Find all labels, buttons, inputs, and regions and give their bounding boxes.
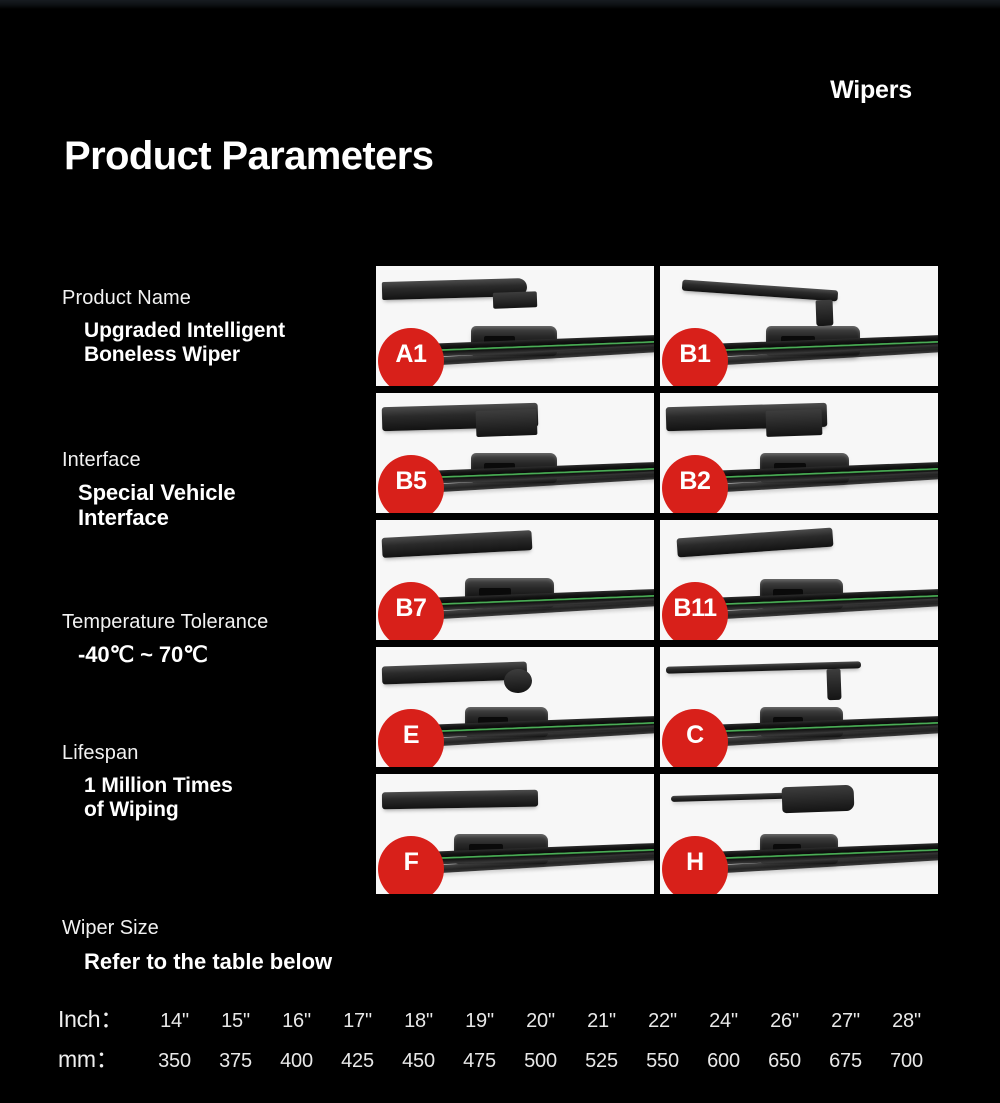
wiper-arm-shape [676, 528, 833, 558]
row-key-inch: Inch： [58, 1000, 144, 1034]
spec-temperature-tolerance: Temperature Tolerance -40℃ ~ 70℃ [62, 610, 362, 668]
spec-product-name: Product Name Upgraded Intelligent Bonele… [62, 286, 362, 366]
wiper-arm-shape [381, 530, 532, 558]
wiper-arm-tip-shape [782, 785, 855, 814]
adapter-photo-cell[interactable]: B5 [376, 393, 654, 513]
mm-cell: 675 [815, 1050, 876, 1073]
adapter-badge: B2 [662, 455, 728, 513]
spec-lifespan: Lifespan 1 Million Times of Wiping [62, 741, 362, 821]
adapter-badge: B7 [378, 582, 444, 640]
wiper-arm-shape [381, 789, 537, 809]
spec-value: 1 Million Times of Wiping [84, 774, 362, 821]
mm-cell: 550 [632, 1050, 693, 1073]
adapter-badge: C [662, 709, 728, 767]
mm-cell: 400 [266, 1050, 327, 1073]
spec-label: Interface [62, 448, 362, 472]
brand-tag: Wipers [830, 76, 912, 105]
adapter-badge: B1 [662, 328, 728, 386]
size-row-inch: Inch： 14" 15" 16" 17" 18" 19" 20" 21" 22… [58, 1000, 958, 1040]
adapter-badge-label: E [403, 723, 419, 748]
adapter-badge-label: C [686, 723, 704, 748]
inch-cell: 14" [144, 1010, 205, 1033]
adapter-photo-cell[interactable]: A1 [376, 266, 654, 386]
wiper-size-value: Refer to the table below [84, 949, 952, 975]
adapter-badge-label: B1 [679, 342, 710, 367]
inch-cell: 21" [571, 1010, 632, 1033]
inch-cell: 15" [205, 1010, 266, 1033]
mm-cell: 350 [144, 1050, 205, 1073]
wiper-size-section: Wiper Size Refer to the table below [62, 917, 952, 975]
mm-cell: 500 [510, 1050, 571, 1073]
adapter-badge: E [378, 709, 444, 767]
size-conversion-table: Inch： 14" 15" 16" 17" 18" 19" 20" 21" 22… [58, 1000, 958, 1080]
wiper-size-label: Wiper Size [62, 917, 952, 940]
adapter-badge: A1 [378, 328, 444, 386]
adapter-badge: H [662, 836, 728, 894]
adapter-photo-cell[interactable]: C [660, 647, 938, 767]
spec-label: Lifespan [62, 741, 362, 765]
mm-cell: 425 [327, 1050, 388, 1073]
mm-cell: 600 [693, 1050, 754, 1073]
inch-cell: 28" [876, 1010, 937, 1033]
spec-value: -40℃ ~ 70℃ [78, 643, 362, 668]
mm-cell: 525 [571, 1050, 632, 1073]
inch-cell: 18" [388, 1010, 449, 1033]
inch-cell: 17" [327, 1010, 388, 1033]
adapter-photo-cell[interactable]: B2 [660, 393, 938, 513]
mm-cell: 450 [388, 1050, 449, 1073]
adapter-photo-cell[interactable]: B11 [660, 520, 938, 640]
wiper-arm-shape [682, 280, 838, 302]
inch-cell: 20" [510, 1010, 571, 1033]
row-key-mm: mm： [58, 1040, 144, 1074]
size-row-mm: mm： 350 375 400 425 450 475 500 525 550 … [58, 1040, 958, 1080]
adapter-photo-grid: A1 B1 B5 [376, 266, 938, 894]
adapter-photo-cell[interactable]: E [376, 647, 654, 767]
mm-cell: 475 [449, 1050, 510, 1073]
product-parameters-page: Wipers Product Parameters Product Name U… [0, 0, 1000, 1103]
inch-cell: 16" [266, 1010, 327, 1033]
spec-label: Temperature Tolerance [62, 610, 362, 634]
wiper-arm-tip-shape [765, 409, 821, 437]
inch-cell: 24" [693, 1010, 754, 1033]
adapter-badge: B11 [662, 582, 728, 640]
spec-value: Special Vehicle Interface [78, 481, 362, 530]
inch-cell: 19" [449, 1010, 510, 1033]
adapter-badge-label: A1 [395, 342, 426, 367]
adapter-badge-label: B5 [395, 469, 426, 494]
adapter-photo-cell[interactable]: B7 [376, 520, 654, 640]
wiper-arm-tip-shape [815, 299, 833, 326]
adapter-photo-cell[interactable]: B1 [660, 266, 938, 386]
mm-cell: 700 [876, 1050, 937, 1073]
adapter-badge: B5 [378, 455, 444, 513]
adapter-badge-label: B7 [395, 596, 426, 621]
mm-cell: 375 [205, 1050, 266, 1073]
adapter-badge: F [378, 836, 444, 894]
inch-cell: 22" [632, 1010, 693, 1033]
adapter-badge-label: B2 [679, 469, 710, 494]
spec-interface: Interface Special Vehicle Interface [62, 448, 362, 530]
spec-value: Upgraded Intelligent Boneless Wiper [84, 319, 362, 366]
wiper-arm-tip-shape [492, 292, 537, 309]
page-title: Product Parameters [64, 134, 433, 179]
top-gradient-band [0, 0, 1000, 9]
wiper-arm-tip-shape [826, 668, 841, 700]
mm-cell: 650 [754, 1050, 815, 1073]
spec-label: Product Name [62, 286, 362, 310]
wiper-arm-pivot-shape [503, 668, 532, 693]
adapter-badge-label: B11 [673, 596, 716, 621]
inch-cell: 27" [815, 1010, 876, 1033]
adapter-photo-cell[interactable]: H [660, 774, 938, 894]
adapter-badge-label: F [404, 850, 419, 875]
adapter-photo-cell[interactable]: F [376, 774, 654, 894]
inch-cell: 26" [754, 1010, 815, 1033]
wiper-arm-tip-shape [476, 409, 538, 438]
adapter-badge-label: H [686, 850, 704, 875]
